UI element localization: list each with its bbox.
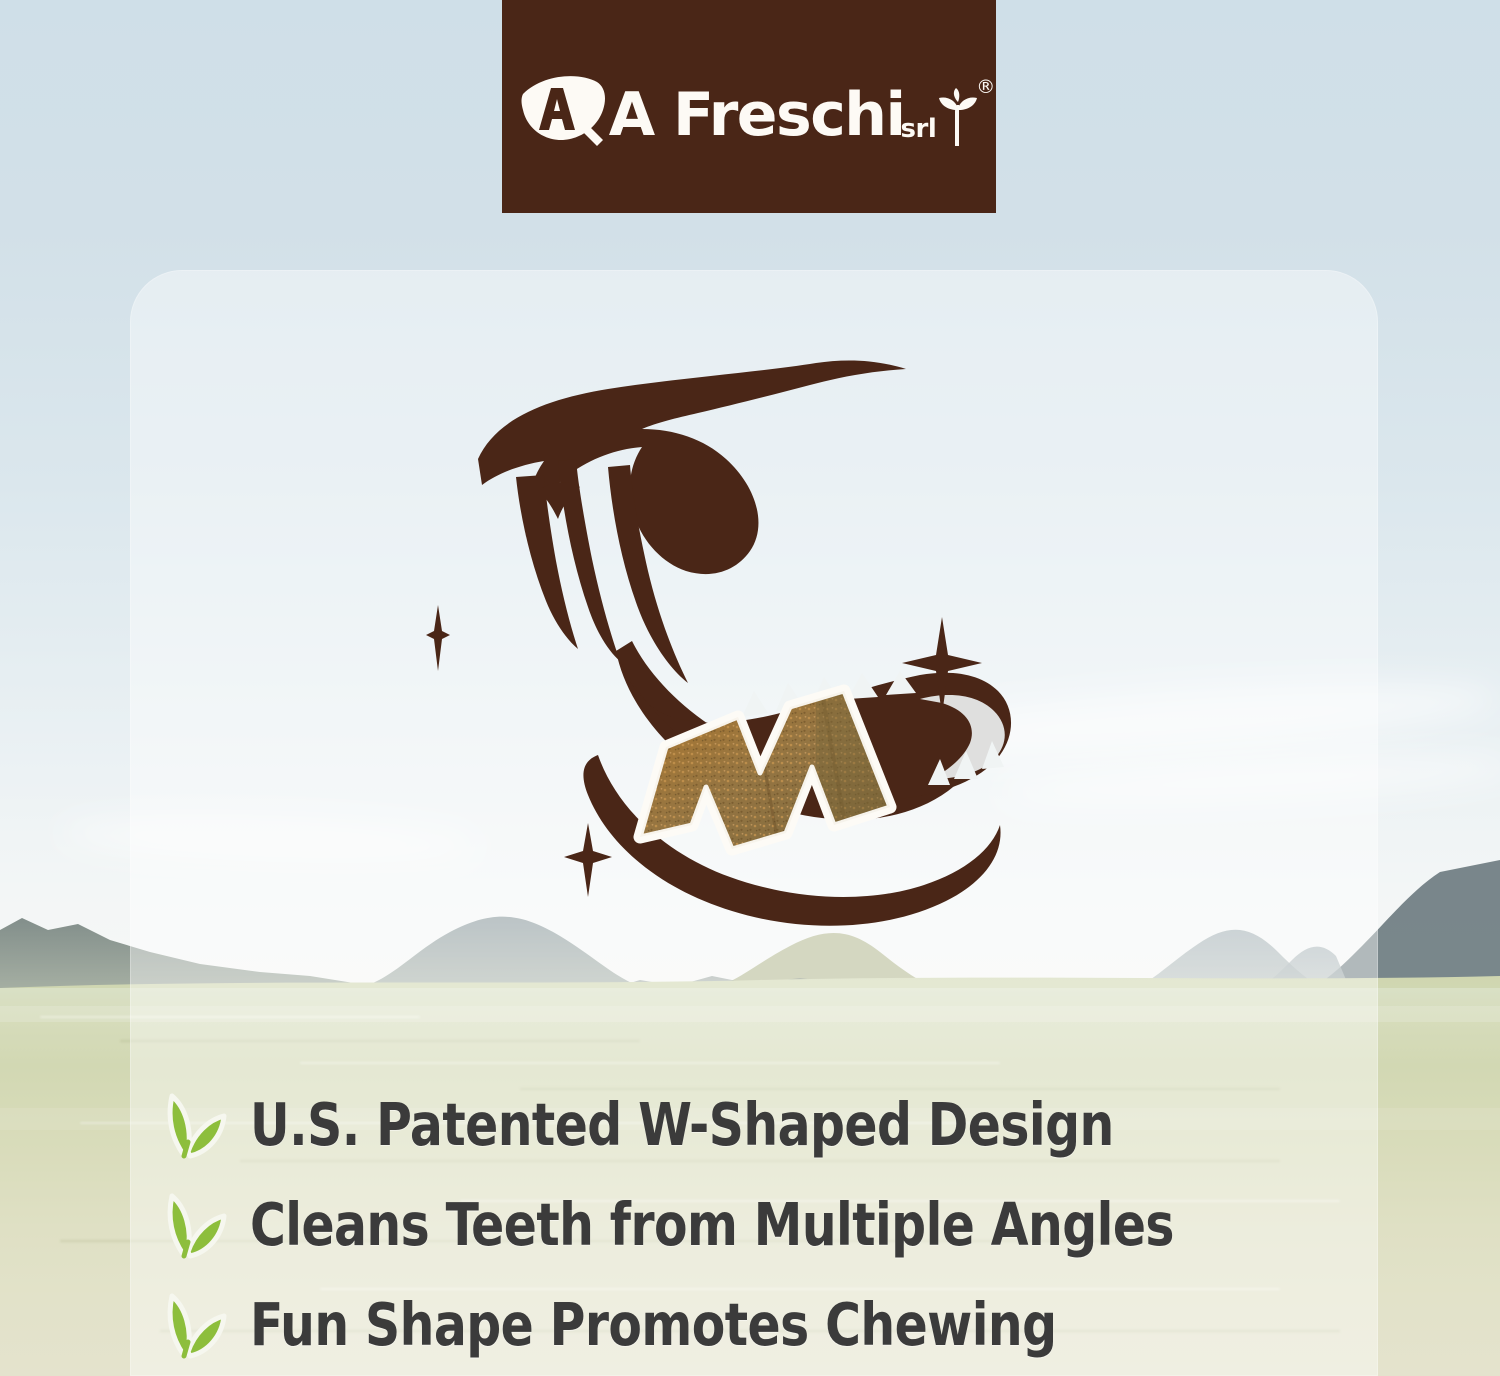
leaf-magnifier-a-icon bbox=[521, 72, 607, 146]
hero-illustration-wrap bbox=[420, 355, 1060, 975]
feature-label: U.S. Patented W-Shaped Design bbox=[250, 1093, 1114, 1157]
feature-item: Fun Shape Promotes Chewing bbox=[150, 1275, 1380, 1375]
brand-suffix: srl bbox=[901, 116, 937, 146]
plant-sprout-icon: ® bbox=[937, 88, 977, 146]
brand-logo-bar: A Freschi srl ® bbox=[502, 0, 996, 213]
sparkle-small-bottom bbox=[564, 823, 612, 897]
brand-wordmark: A Freschi bbox=[609, 84, 905, 146]
feature-label: Cleans Teeth from Multiple Angles bbox=[250, 1193, 1174, 1257]
feature-list: U.S. Patented W-Shaped Design Cleans Tee… bbox=[150, 1075, 1380, 1375]
brand-logo: A Freschi srl ® bbox=[521, 68, 978, 146]
product-feature-graphic: A Freschi srl ® bbox=[0, 0, 1500, 1376]
feature-item: U.S. Patented W-Shaped Design bbox=[150, 1075, 1380, 1175]
leaf-pair-icon bbox=[150, 1086, 228, 1164]
feature-label: Fun Shape Promotes Chewing bbox=[250, 1293, 1057, 1357]
feature-item: Cleans Teeth from Multiple Angles bbox=[150, 1175, 1380, 1275]
registered-mark-icon: ® bbox=[976, 78, 995, 97]
sparkle-small-left bbox=[426, 605, 450, 671]
leaf-pair-icon bbox=[150, 1186, 228, 1264]
leaf-pair-icon bbox=[150, 1286, 228, 1364]
dog-open-mouth-with-w-chew-illustration bbox=[420, 355, 1060, 975]
